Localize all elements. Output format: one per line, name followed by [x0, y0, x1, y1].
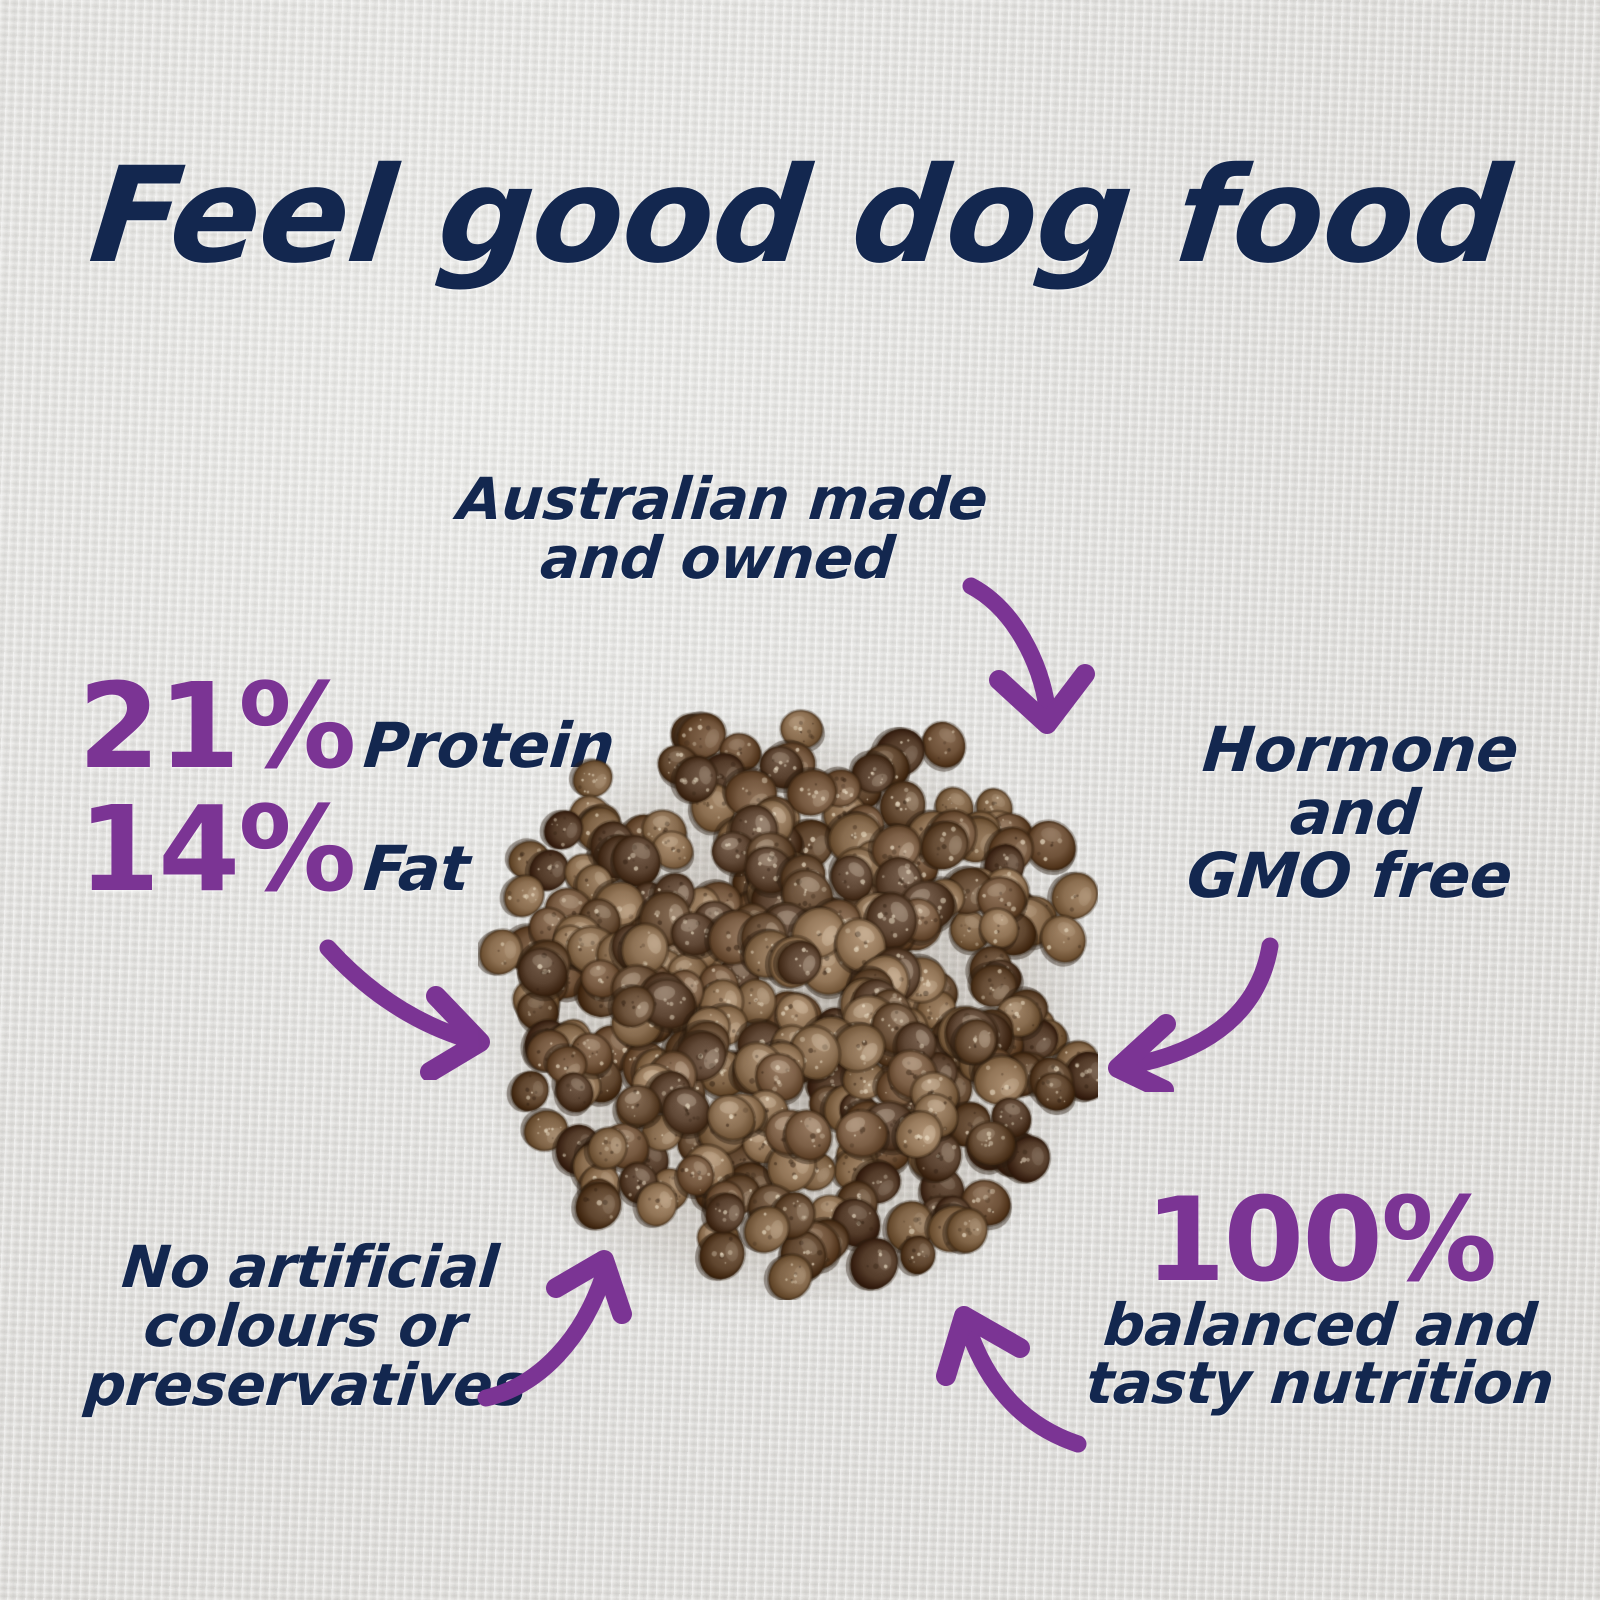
- curved-arrow-down-left-icon: [1084, 932, 1284, 1092]
- callout-line: No artificial: [93, 1238, 528, 1297]
- stat-value: 100%: [1060, 1186, 1580, 1296]
- dog-kibble-pile: [478, 700, 1098, 1300]
- callout-line: balanced and: [1057, 1296, 1582, 1354]
- poster-canvas: Feel good dog food Australian made and o…: [0, 0, 1600, 1600]
- kibble-canvas: [478, 700, 1098, 1300]
- callout-hormone-gmo-free: Hormone and GMO free: [1112, 718, 1599, 908]
- callout-line: and owned: [435, 529, 1000, 588]
- callout-line: tasty nutrition: [1057, 1354, 1582, 1412]
- stat-label: Fat: [362, 840, 472, 897]
- callout-line: preservatives: [82, 1356, 517, 1415]
- callout-no-artificial: No artificial colours or preservatives: [82, 1238, 528, 1415]
- callout-balanced-nutrition: 100% balanced and tasty nutrition: [1060, 1186, 1580, 1412]
- page-title: Feel good dog food: [0, 150, 1600, 282]
- callout-line: GMO free: [1112, 844, 1588, 907]
- stat-value: 21%: [78, 672, 354, 781]
- callout-line: Australian made: [440, 470, 1005, 529]
- callout-australian-made: Australian made and owned: [435, 470, 1005, 588]
- stat-value: 14%: [78, 795, 354, 904]
- callout-line: and: [1117, 781, 1593, 844]
- callout-line: colours or: [87, 1297, 522, 1356]
- callout-line: Hormone: [1123, 718, 1599, 781]
